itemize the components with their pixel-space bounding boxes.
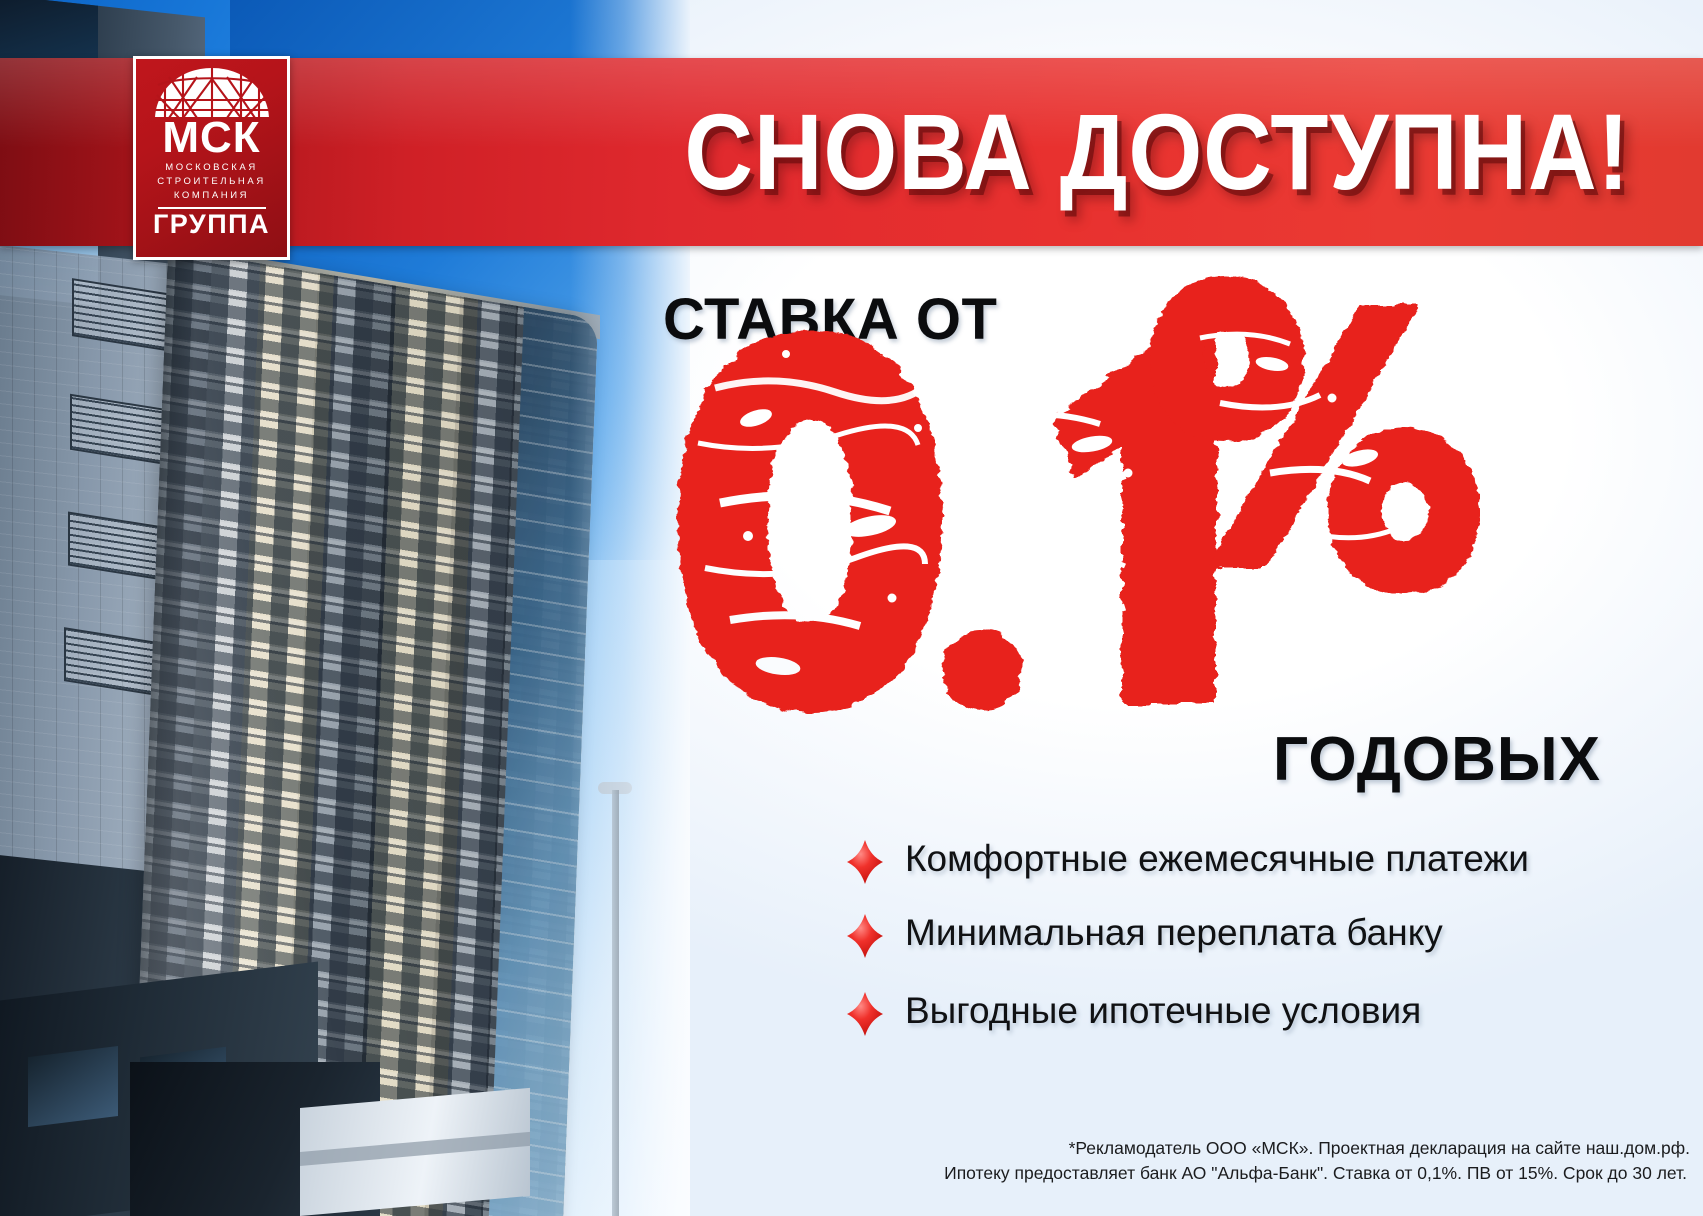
geodesic-dome-icon (153, 67, 271, 117)
structure-band (300, 1132, 530, 1166)
window (28, 1046, 118, 1127)
advertisement-poster: СНОВА ДОСТУПНА! МСК МОСКОВСКАЯ СТ (0, 0, 1703, 1216)
red-diamond-icon (845, 912, 885, 960)
benefits-list: Комфортные ежемесячные платежи Минимальн… (845, 838, 1545, 1038)
red-diamond-icon (845, 838, 885, 886)
msk-logo[interactable]: МСК МОСКОВСКАЯ СТРОИТЕЛЬНАЯ КОМПАНИЯ ГРУ… (133, 56, 290, 260)
period-label: ГОДОВЫХ (1273, 724, 1601, 795)
list-item-label: Комфортные ежемесячные платежи (905, 838, 1529, 881)
list-item: Выгодные ипотечные условия (845, 990, 1545, 1038)
list-item-label: Минимальная переплата банку (905, 912, 1443, 955)
logo-subtitle-line-2: СТРОИТЕЛЬНАЯ (157, 175, 266, 189)
logo-subtitle: МОСКОВСКАЯ СТРОИТЕЛЬНАЯ КОМПАНИЯ (157, 161, 266, 203)
rate-value-graphic (660, 268, 1480, 738)
logo-abbreviation: МСК (162, 116, 260, 159)
disclaimer-line-1: *Рекламодатель ООО «МСК». Проектная декл… (700, 1136, 1690, 1161)
list-item-label: Выгодные ипотечные условия (905, 990, 1421, 1033)
logo-subtitle-line-3: КОМПАНИЯ (157, 189, 266, 203)
logo-group-label: ГРУППА (153, 211, 270, 238)
disclaimer-line-2: Ипотеку предоставляет банк АО "Альфа-Бан… (700, 1161, 1690, 1186)
disclaimer: *Рекламодатель ООО «МСК». Проектная декл… (700, 1136, 1690, 1187)
list-item: Минимальная переплата банку (845, 912, 1545, 960)
ground-level-structure (300, 1088, 530, 1216)
headline-text: СНОВА ДОСТУПНА! (636, 58, 1630, 246)
logo-subtitle-line-1: МОСКОВСКАЯ (157, 161, 266, 175)
list-item: Комфортные ежемесячные платежи (845, 838, 1545, 886)
red-diamond-icon (845, 990, 885, 1038)
